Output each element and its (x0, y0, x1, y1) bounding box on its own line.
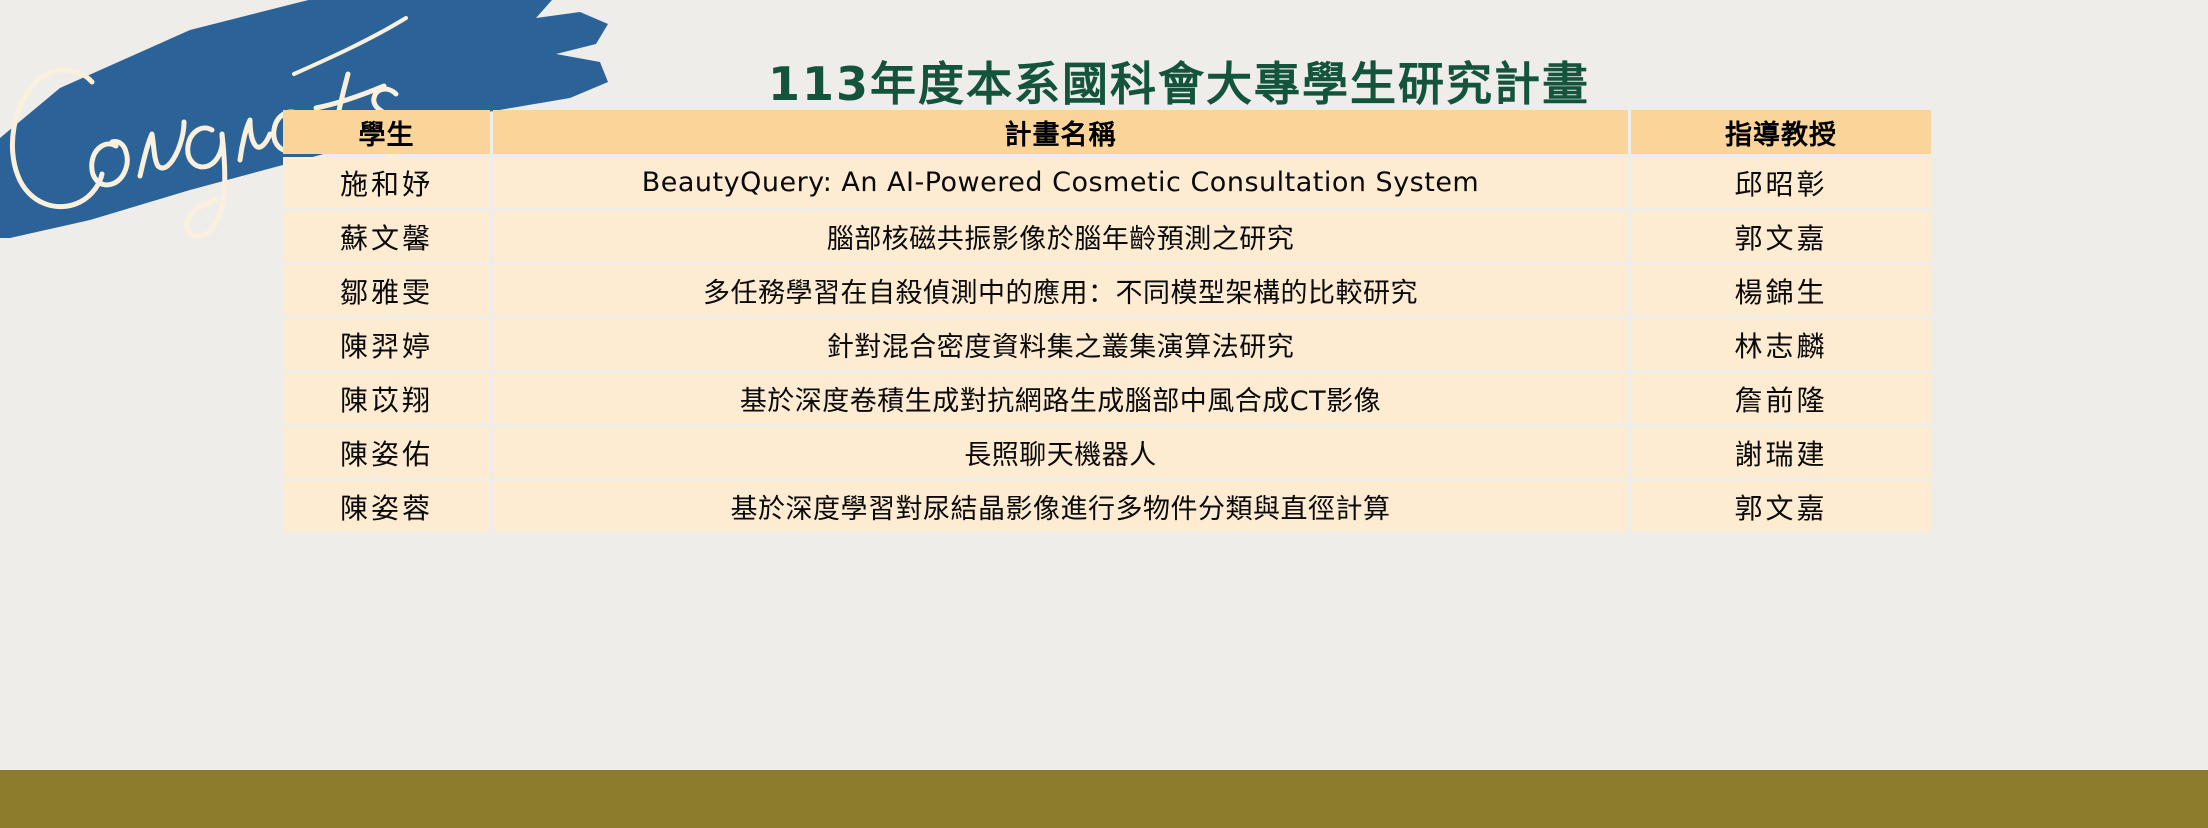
cell-student: 陳姿佑 (283, 427, 490, 478)
projects-table-wrap: 學生 計畫名稱 指導教授 施和妤 BeautyQuery: An AI-Powe… (280, 107, 1925, 535)
column-header-student: 學生 (283, 110, 490, 154)
table-header: 學生 計畫名稱 指導教授 (283, 110, 1931, 154)
cell-student: 鄒雅雯 (283, 265, 490, 316)
cell-project: 針對混合密度資料集之叢集演算法研究 (493, 319, 1628, 370)
cell-project: 基於深度卷積生成對抗網路生成腦部中風合成CT影像 (493, 373, 1628, 424)
table-row: 陳羿婷 針對混合密度資料集之叢集演算法研究 林志麟 (283, 319, 1931, 370)
projects-table: 學生 計畫名稱 指導教授 施和妤 BeautyQuery: An AI-Powe… (280, 107, 1934, 535)
table-row: 陳姿佑 長照聊天機器人 謝瑞建 (283, 427, 1931, 478)
cell-project: 腦部核磁共振影像於腦年齡預測之研究 (493, 211, 1628, 262)
cell-project: 基於深度學習對尿結晶影像進行多物件分類與直徑計算 (493, 481, 1628, 532)
cell-student: 陳羿婷 (283, 319, 490, 370)
column-header-project: 計畫名稱 (493, 110, 1628, 154)
cell-project: 多任務學習在自殺偵測中的應用：不同模型架構的比較研究 (493, 265, 1628, 316)
table-body: 施和妤 BeautyQuery: An AI-Powered Cosmetic … (283, 157, 1931, 532)
cell-project: 長照聊天機器人 (493, 427, 1628, 478)
cell-advisor: 郭文嘉 (1631, 211, 1931, 262)
cell-project: BeautyQuery: An AI-Powered Cosmetic Cons… (493, 157, 1628, 208)
cell-advisor: 林志麟 (1631, 319, 1931, 370)
cell-advisor: 詹前隆 (1631, 373, 1931, 424)
cell-student: 蘇文馨 (283, 211, 490, 262)
column-header-advisor: 指導教授 (1631, 110, 1931, 154)
table-row: 陳姿蓉 基於深度學習對尿結晶影像進行多物件分類與直徑計算 郭文嘉 (283, 481, 1931, 532)
cell-student: 陳姿蓉 (283, 481, 490, 532)
cell-advisor: 郭文嘉 (1631, 481, 1931, 532)
page-title-text: 113年度本系國科會大專學生研究計畫 (768, 48, 1590, 114)
table-row: 蘇文馨 腦部核磁共振影像於腦年齡預測之研究 郭文嘉 (283, 211, 1931, 262)
cell-advisor: 邱昭彰 (1631, 157, 1931, 208)
table-row: 陳苡翔 基於深度卷積生成對抗網路生成腦部中風合成CT影像 詹前隆 (283, 373, 1931, 424)
table-row: 鄒雅雯 多任務學習在自殺偵測中的應用：不同模型架構的比較研究 楊錦生 (283, 265, 1931, 316)
cell-advisor: 謝瑞建 (1631, 427, 1931, 478)
cell-student: 陳苡翔 (283, 373, 490, 424)
page-title: 113年度本系國科會大專學生研究計畫 (0, 48, 2208, 114)
table-header-row: 學生 計畫名稱 指導教授 (283, 110, 1931, 154)
table-row: 施和妤 BeautyQuery: An AI-Powered Cosmetic … (283, 157, 1931, 208)
cell-advisor: 楊錦生 (1631, 265, 1931, 316)
cell-student: 施和妤 (283, 157, 490, 208)
footer-bar (0, 770, 2208, 828)
